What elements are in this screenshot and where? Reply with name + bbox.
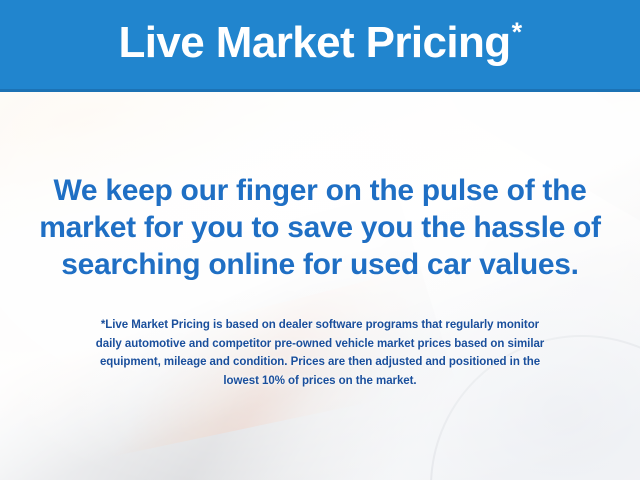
- disclaimer-line-3: equipment, mileage and condition. Prices…: [0, 353, 640, 372]
- headline-line-1: We keep our finger on the pulse of the: [0, 172, 640, 209]
- banner-title-asterisk: *: [512, 17, 522, 47]
- disclaimer-line-1: *Live Market Pricing is based on dealer …: [0, 316, 640, 335]
- headline-line-2: market for you to save you the hassle of: [0, 209, 640, 246]
- live-market-pricing-promo: Live Market Pricing* We keep our finger …: [0, 0, 640, 480]
- disclaimer-text: *Live Market Pricing is based on dealer …: [0, 316, 640, 390]
- headline: We keep our finger on the pulse of the m…: [0, 172, 640, 283]
- disclaimer-line-4: lowest 10% of prices on the market.: [0, 372, 640, 391]
- disclaimer-line-2: daily automotive and competitor pre-owne…: [0, 335, 640, 354]
- headline-line-3: searching online for used car values.: [0, 246, 640, 283]
- header-banner: Live Market Pricing*: [0, 0, 640, 92]
- banner-title-text: Live Market Pricing: [119, 18, 511, 67]
- banner-title: Live Market Pricing*: [119, 21, 522, 68]
